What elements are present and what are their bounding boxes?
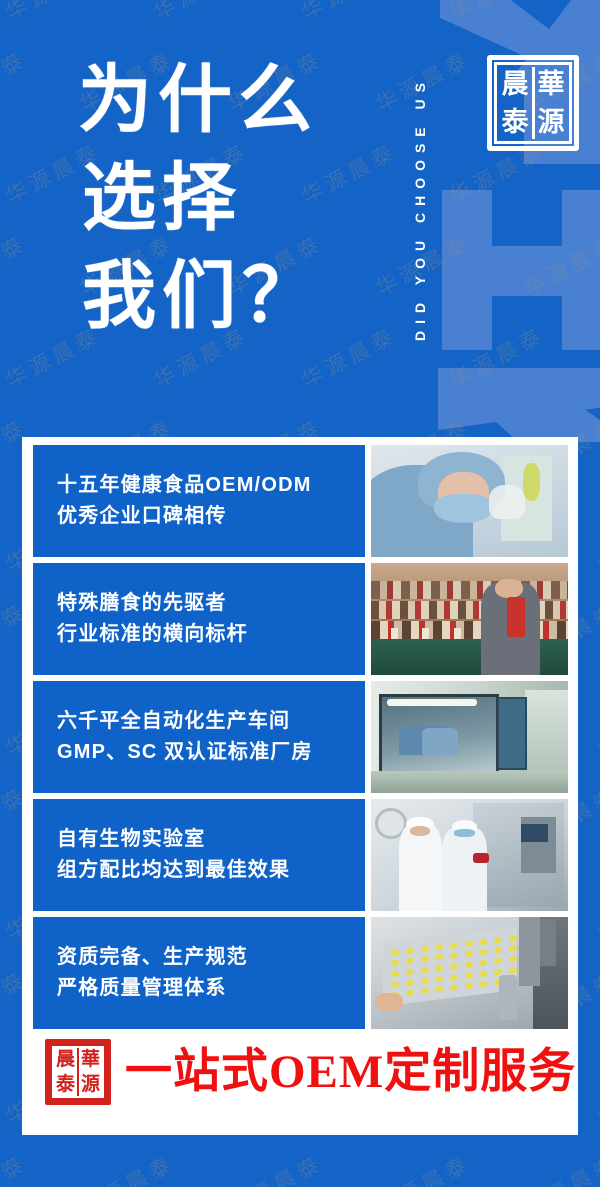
tablet-dot [494,968,502,975]
tablet-dot [494,947,502,954]
tablet-dot [465,961,473,968]
brand-seal-footer: 晨 華 泰 源 [45,1039,111,1105]
seal-char-4: 源 [533,103,569,141]
tablet-dot [465,982,473,989]
tablet-dot [435,986,443,993]
footer-seal-char-2: 華 [78,1047,103,1072]
tablet-dot [406,947,414,954]
feature-row: 资质完备、生产规范 严格质量管理体系 [33,917,568,1029]
tablet-dot [465,950,473,957]
feature-line-1: 资质完备、生产规范 [57,942,365,973]
poster-root: 为什么 选择 我们？ DID YOU CHOOSE US 晨 華 泰 源 十五年… [0,0,600,1187]
watermark-text: 华源晨泰 [74,1147,180,1187]
feature-text-block: 十五年健康食品OEM/ODM 优秀企业口碑相传 [33,445,365,557]
tablet-dot [435,965,443,972]
tablet-dot [479,948,487,955]
tablet-dot [420,977,428,984]
tablet-dot [435,975,443,982]
watermark-text: 华源晨泰 [444,319,550,394]
tablet-dot [391,949,399,956]
photo-lab-worker [371,445,568,557]
page-title-line-3: 我们？ [78,248,322,346]
feature-line-2: 组方配比均达到最佳效果 [57,855,365,886]
feature-row: 六千平全自动化生产车间 GMP、SC 双认证标准厂房 [33,681,568,793]
photo-blister-packing-machine [371,917,568,1029]
seal-character-grid: 晨 華 泰 源 [497,65,569,141]
seal-char-3: 泰 [497,103,533,141]
watermark-text: 华源晨泰 [0,1147,32,1187]
page-title-line-2: 选择 [78,150,322,248]
tablet-dot [420,988,428,995]
tablet-dot [406,979,414,986]
feature-line-2: 优秀企业口碑相传 [57,501,365,532]
tablet-dot [509,945,517,952]
feature-photo [371,917,568,1029]
tablet-dot [479,938,487,945]
why-letter-w-left-stroke [438,368,600,430]
feature-text-block: 特殊膳食的先驱者 行业标准的横向标杆 [33,563,365,675]
feature-row: 十五年健康食品OEM/ODM 优秀企业口碑相传 [33,445,568,557]
feature-line-1: 六千平全自动化生产车间 [57,706,365,737]
footer-seal-char-3: 泰 [53,1072,78,1097]
seal-char-1: 晨 [497,65,533,103]
tablet-dot [435,943,443,950]
tablet-dot [450,963,458,970]
footer-seal-char-4: 源 [78,1072,103,1097]
tablet-dot [494,936,502,943]
why-letter-h-right-stroke [562,190,600,350]
feature-photo [371,681,568,793]
vertical-english-text: DID YOU CHOOSE US [412,76,428,341]
tablet-dot [494,957,502,964]
tablet-dot [435,954,443,961]
tablet-dot [465,940,473,947]
tablet-dot [406,968,414,975]
footer-banner: 晨 華 泰 源 一站式OEM定制服务 [33,1035,568,1109]
tablet-dot [479,970,487,977]
feature-line-1: 十五年健康食品OEM/ODM [57,470,365,501]
feature-line-1: 特殊膳食的先驱者 [57,588,365,619]
watermark-text: 华源晨泰 [592,0,600,26]
watermark-text: 华源晨泰 [148,0,254,26]
features-list: 十五年健康食品OEM/ODM 优秀企业口碑相传 特殊膳食的先驱者 行业标准的横向… [33,445,568,1029]
tablet-dot [479,959,487,966]
watermark-text: 华源晨泰 [592,503,600,578]
tablet-dot [509,956,517,963]
feature-line-1: 自有生物实验室 [57,824,365,855]
tablet-dot [479,980,487,987]
watermark-text: 华源晨泰 [592,687,600,762]
vertical-english-tagline: DID YOU CHOOSE US [412,22,428,394]
watermark-text: 华源晨泰 [0,0,106,26]
watermark-text: 华源晨泰 [0,43,32,118]
tablet-dot [509,966,517,973]
feature-photo [371,445,568,557]
tablet-dot [465,972,473,979]
tablet-dot [420,945,428,952]
watermark-text: 华源晨泰 [518,1147,600,1187]
features-panel: 十五年健康食品OEM/ODM 优秀企业口碑相传 特殊膳食的先驱者 行业标准的横向… [22,437,578,1135]
feature-photo [371,799,568,911]
feature-line-2: 严格质量管理体系 [57,973,365,1004]
tablet-dot [450,941,458,948]
tablet-dot [450,973,458,980]
watermark-text: 华源晨泰 [370,1147,476,1187]
tablet-dot [391,970,399,977]
seal-char-2: 華 [533,65,569,103]
why-letter-w-right-stroke [470,398,600,442]
photo-cleanroom-corridor [371,681,568,793]
watermark-text: 华源晨泰 [518,227,600,302]
watermark-text: 华源晨泰 [592,1055,600,1130]
watermark-text: 华源晨泰 [592,871,600,946]
tablet-dot [420,956,428,963]
watermark-text: 华源晨泰 [296,0,402,26]
feature-line-2: 行业标准的横向标杆 [57,619,365,650]
feature-text-block: 资质完备、生产规范 严格质量管理体系 [33,917,365,1029]
feature-line-2: GMP、SC 双认证标准厂房 [57,737,365,768]
feature-text-block: 自有生物实验室 组方配比均达到最佳效果 [33,799,365,911]
tablet-dot [450,952,458,959]
watermark-text: 华源晨泰 [592,319,600,394]
feature-text-block: 六千平全自动化生产车间 GMP、SC 双认证标准厂房 [33,681,365,793]
footer-slogan: 一站式OEM定制服务 [125,1044,576,1100]
footer-seal-char-1: 晨 [53,1047,78,1072]
why-letter-h-left-stroke [442,190,492,350]
tablet-dot [420,966,428,973]
tablet-dot [406,958,414,965]
tablet-dot [391,959,399,966]
why-letter-h-crossbar [442,246,600,296]
tablet-dot [509,934,517,941]
footer-seal-character-grid: 晨 華 泰 源 [53,1047,103,1097]
watermark-text: 华源晨泰 [592,135,600,210]
brand-seal-top: 晨 華 泰 源 [487,55,579,151]
watermark-text: 华源晨泰 [222,1147,328,1187]
watermark-text: 华源晨泰 [444,0,550,26]
tablet-dot [406,990,414,997]
watermark-text: 华源晨泰 [0,227,32,302]
page-title-line-1: 为什么 [78,52,322,150]
photo-technicians-line [371,799,568,911]
page-title: 为什么 选择 我们？ [78,52,322,346]
feature-row: 特殊膳食的先驱者 行业标准的横向标杆 [33,563,568,675]
photo-conference-hall [371,563,568,675]
tablet-dot [391,981,399,988]
feature-photo [371,563,568,675]
tablet-dot [450,984,458,991]
feature-row: 自有生物实验室 组方配比均达到最佳效果 [33,799,568,911]
